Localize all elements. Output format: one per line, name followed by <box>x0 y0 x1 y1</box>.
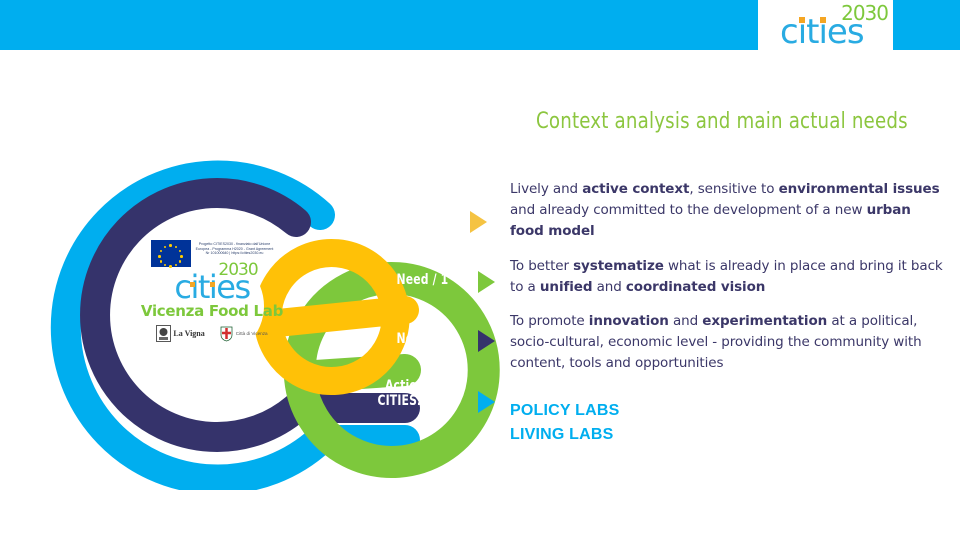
logo-dot-icon <box>820 17 826 23</box>
cities2030-logo: cities 2030 <box>780 3 890 49</box>
arrow-actual-context-icon <box>470 211 487 233</box>
labs-line-living: LIVING LABS <box>510 423 810 447</box>
center-disc <box>160 254 264 358</box>
arrow-need-1-icon <box>478 271 495 293</box>
logo-dot-icon <box>799 17 805 23</box>
logo-year: 2030 <box>841 3 888 23</box>
header-band-left <box>0 0 758 50</box>
pill-label-need-1[interactable]: Need / 1 <box>396 273 448 288</box>
pill-label-need-2[interactable]: Need / 2 <box>396 332 448 347</box>
text-block-actual-context: Lively and active context, sensitive to … <box>510 179 948 242</box>
concentric-ring-diagram <box>0 130 500 490</box>
labs-line-policy: POLICY LABS <box>510 399 810 423</box>
arrow-need-2-icon <box>478 330 495 352</box>
pill-label-actual-context[interactable]: Actual context <box>357 213 448 228</box>
text-block-need-1: To better systematize what is already in… <box>510 256 948 298</box>
arrow-actions-icon <box>478 391 495 413</box>
page-title: Context analysis and main actual needs <box>536 109 922 134</box>
header-band-right <box>893 0 960 50</box>
pill-label-actions[interactable]: Actions of CITIES2030 <box>378 379 448 409</box>
text-block-need-2: To promote innovation and experimentatio… <box>510 311 950 374</box>
text-block-labs: POLICY LABS LIVING LABS <box>510 399 810 447</box>
